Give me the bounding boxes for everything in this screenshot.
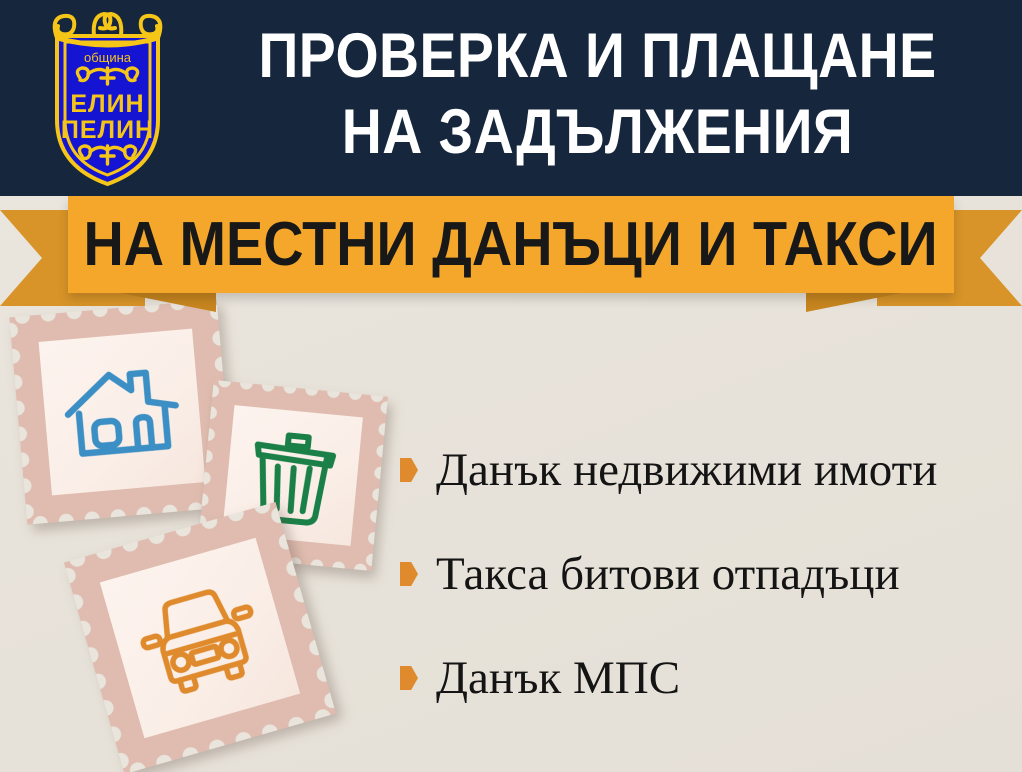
crest-line-two: ПЕЛИН <box>61 116 154 144</box>
list-item-label: Такса битови отпадъци <box>436 548 900 600</box>
coat-of-arms-shield-icon: община ЕЛИН ПЕЛИН <box>30 8 185 190</box>
list-item[interactable]: Данък недвижими имоти <box>400 418 1010 522</box>
list-item-label: Данък МПС <box>436 652 680 704</box>
title-line-2: НА ЗАДЪЛЖЕНИЯ <box>239 94 956 170</box>
stamp-house <box>9 299 234 524</box>
stamp-collage <box>0 300 420 770</box>
house-icon <box>59 357 185 467</box>
header-bar: община ЕЛИН ПЕЛИН <box>0 0 1022 196</box>
ribbon-main-band: НА МЕСТНИ ДАНЪЦИ И ТАКСИ <box>68 196 954 293</box>
crest-line-small: община <box>84 50 132 65</box>
list-item[interactable]: Данък МПС <box>400 626 1010 730</box>
ribbon-label: НА МЕСТНИ ДАНЪЦИ И ТАКСИ <box>84 214 938 276</box>
list-item[interactable]: Такса битови отпадъци <box>400 522 1010 626</box>
arrow-right-bullet-icon <box>400 562 418 586</box>
list-item-label: Данък недвижими имоти <box>436 444 937 496</box>
crest-line-one: ЕЛИН <box>70 90 144 118</box>
poster-canvas: община ЕЛИН ПЕЛИН <box>0 0 1022 772</box>
arrow-right-bullet-icon <box>400 458 418 482</box>
page-title: ПРОВЕРКА И ПЛАЩАНЕ НА ЗАДЪЛЖЕНИЯ <box>190 18 1005 170</box>
title-line-1: ПРОВЕРКА И ПЛАЩАНЕ <box>239 18 956 94</box>
arrow-right-bullet-icon <box>400 666 418 690</box>
tax-types-list: Данък недвижими имоти Такса битови отпад… <box>400 418 1010 730</box>
ribbon-banner: НА МЕСТНИ ДАНЪЦИ И ТАКСИ <box>0 196 1022 316</box>
